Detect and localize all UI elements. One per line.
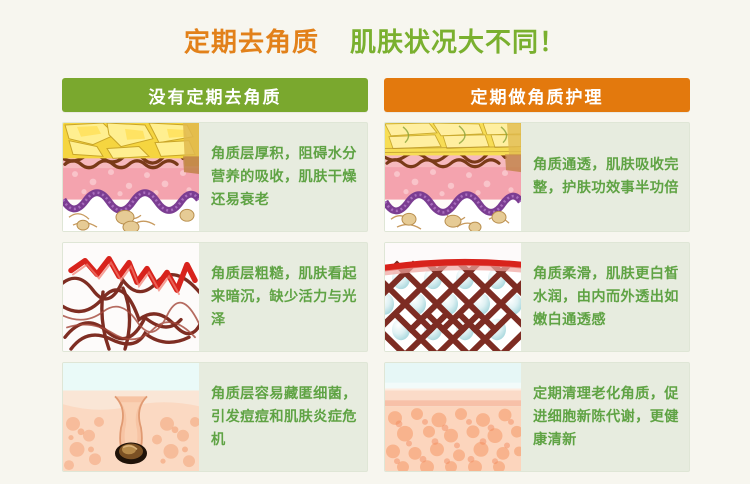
card-description: 定期清理老化角质，促进细胞新陈代谢，更健康清新: [533, 383, 683, 452]
card-list-no-exfoliation: 角质层厚积，阻碍水分营养的吸收，肌肤干燥还易衰老: [62, 122, 368, 472]
column-header-no-exfoliation: 没有定期去角质: [62, 78, 368, 112]
comparison-columns: 没有定期去角质: [62, 78, 690, 482]
card-description-wrap: 角质层粗糙，肌肤看起来暗沉，缺少活力与光泽: [199, 243, 367, 351]
clean-smooth-skin-cross-section-icon: [385, 363, 521, 471]
poster-root: 定期去角质 肌肤状况大不同！ 没有定期去角质: [0, 0, 750, 484]
card-description: 角质层粗糙，肌肤看起来暗沉，缺少活力与光泽: [211, 263, 361, 332]
card-clogged-pore: 角质层容易藏匿细菌，引发痘痘和肌肤炎症危机: [62, 362, 368, 472]
card-description: 角质通透，肌肤吸收完整，护肤功效事半功倍: [533, 154, 683, 200]
card-clean-skin: 定期清理老化角质，促进细胞新陈代谢，更健康清新: [384, 362, 690, 472]
page-title: 定期去角质 肌肤状况大不同！: [0, 22, 750, 59]
card-description-wrap: 角质层容易藏匿细菌，引发痘痘和肌肤炎症危机: [199, 363, 367, 471]
card-description-wrap: 角质柔滑，肌肤更白皙水润，由内而外透出如嫩白通透感: [521, 243, 689, 351]
column-regular-exfoliation: 定期做角质护理: [384, 78, 690, 482]
card-description-wrap: 角质层厚积，阻碍水分营养的吸收，肌肤干燥还易衰老: [199, 123, 367, 231]
page-title-part-2: 肌肤状况大不同！: [350, 27, 566, 57]
column-no-exfoliation: 没有定期去角质: [62, 78, 368, 482]
card-description: 角质层厚积，阻碍水分营养的吸收，肌肤干燥还易衰老: [211, 143, 361, 212]
card-rough-texture: 角质层粗糙，肌肤看起来暗沉，缺少活力与光泽: [62, 242, 368, 352]
clogged-pore-blackhead-icon: [63, 363, 199, 471]
card-list-regular-exfoliation: 角质通透，肌肤吸收完整，护肤功效事半功倍: [384, 122, 690, 472]
thick-stratum-corneum-cross-section-icon: [63, 123, 199, 231]
column-header-regular-exfoliation: 定期做角质护理: [384, 78, 690, 112]
hydrated-lattice-with-droplets-icon: [385, 243, 521, 351]
rough-tangled-lines-icon: [63, 243, 199, 351]
card-hydrated-lattice: 角质柔滑，肌肤更白皙水润，由内而外透出如嫩白通透感: [384, 242, 690, 352]
card-description: 角质柔滑，肌肤更白皙水润，由内而外透出如嫩白通透感: [533, 263, 683, 332]
card-thick-stratum-corneum: 角质层厚积，阻碍水分营养的吸收，肌肤干燥还易衰老: [62, 122, 368, 232]
page-title-part-1: 定期去角质: [184, 27, 319, 57]
card-description: 角质层容易藏匿细菌，引发痘痘和肌肤炎症危机: [211, 383, 361, 452]
smooth-stratum-corneum-cross-section-icon: [385, 123, 521, 231]
card-description-wrap: 角质通透，肌肤吸收完整，护肤功效事半功倍: [521, 123, 689, 231]
card-smooth-stratum-corneum: 角质通透，肌肤吸收完整，护肤功效事半功倍: [384, 122, 690, 232]
card-description-wrap: 定期清理老化角质，促进细胞新陈代谢，更健康清新: [521, 363, 689, 471]
